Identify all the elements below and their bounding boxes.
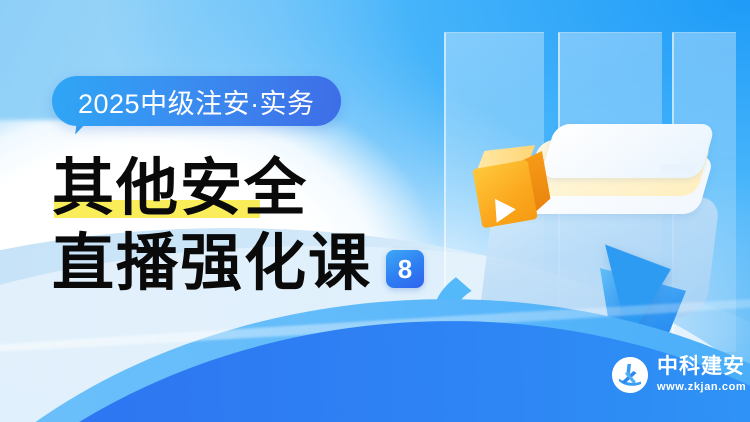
headline-line-1-row: 其他安全 <box>52 152 472 226</box>
brand-logo-text: 中科建安 www.zkjan.com <box>657 356 746 393</box>
brand-logo[interactable]: 中科建安 www.zkjan.com <box>612 356 746 393</box>
headline-line-1: 其他安全 <box>52 158 308 220</box>
zkjan-circle-logo-icon <box>612 357 648 393</box>
headline-block: 其他安全 直播强化课 8 <box>52 152 472 302</box>
play-cube-icon <box>469 140 562 235</box>
episode-number-badge: 8 <box>386 250 424 288</box>
eyebrow-badge: 2025中级注安·实务 <box>52 76 341 126</box>
brand-name: 中科建安 <box>657 356 746 377</box>
cube-front-face-icon <box>472 160 538 229</box>
play-triangle-icon <box>495 197 517 222</box>
document-tab-icon <box>659 164 698 173</box>
headline-line-2: 直播强化课 <box>52 233 372 295</box>
brand-url: www.zkjan.com <box>657 382 746 393</box>
course-banner: 2025中级注安·实务 其他安全 直播强化课 8 中科建安 www.zkjan.… <box>0 0 750 422</box>
eyebrow-label: 2025中级注安·实务 <box>78 82 315 121</box>
headline-line-2-row: 直播强化课 8 <box>52 226 472 302</box>
